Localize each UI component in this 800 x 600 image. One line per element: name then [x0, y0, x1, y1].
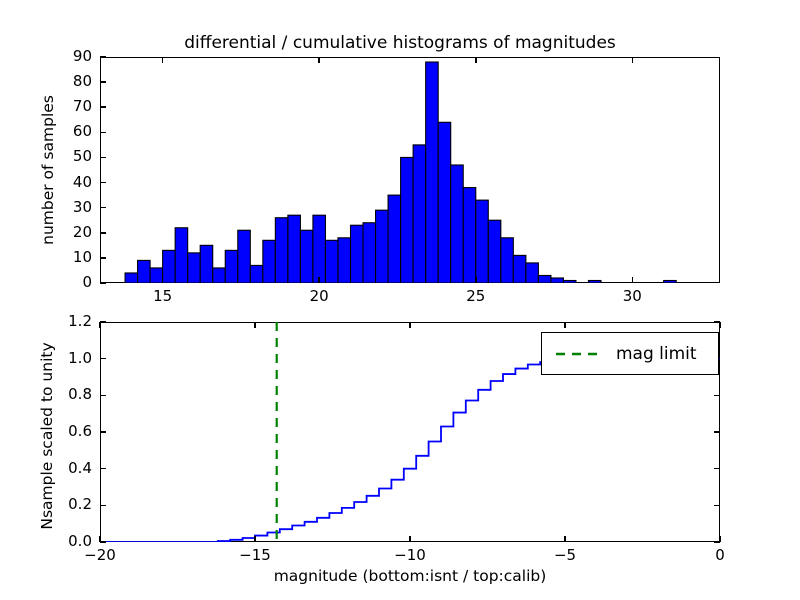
y-tick-label: 60 — [44, 122, 92, 140]
y-tick — [100, 207, 106, 209]
y-tick — [100, 81, 106, 83]
mag-limit-line-icon — [554, 347, 600, 361]
x-tick-label: −5 — [525, 546, 605, 564]
histogram-bar — [250, 265, 263, 283]
x-tick — [254, 536, 256, 542]
y-tick-label: 30 — [44, 198, 92, 216]
histogram-bar — [138, 260, 151, 283]
y-tick — [100, 56, 106, 58]
y-tick-right — [714, 431, 720, 433]
histogram-bar — [501, 238, 514, 283]
histogram-bar — [413, 145, 426, 283]
y-tick-label: 40 — [44, 173, 92, 191]
histogram-bar — [463, 188, 476, 283]
y-tick — [100, 157, 106, 159]
y-tick — [100, 541, 106, 543]
y-tick — [100, 282, 106, 284]
histogram-bar — [488, 220, 501, 283]
y-tick-label: 0.4 — [38, 459, 92, 477]
x-tick-top — [719, 322, 721, 328]
histogram-bar — [426, 62, 439, 283]
x-tick — [564, 536, 566, 542]
y-tick — [100, 395, 106, 397]
y-tick-label: 20 — [44, 223, 92, 241]
histogram-bar — [526, 263, 539, 283]
y-tick-label: 0.6 — [38, 422, 92, 440]
legend-label-mag-limit: mag limit — [616, 344, 697, 364]
differential-histogram-plot — [100, 57, 720, 283]
y-tick — [100, 505, 106, 507]
histogram-bar — [401, 157, 414, 283]
histogram-bar — [150, 268, 163, 283]
y-tick-label: 10 — [44, 248, 92, 266]
x-tick-top — [254, 322, 256, 328]
x-tick-top — [318, 57, 320, 63]
y-tick — [100, 321, 106, 323]
x-tick-top — [475, 57, 477, 63]
x-tick — [162, 277, 164, 283]
x-tick-label: −20 — [60, 546, 140, 564]
histogram-bar — [300, 230, 313, 283]
histogram-bar — [363, 223, 376, 283]
x-tick — [719, 536, 721, 542]
x-tick-label: −10 — [370, 546, 450, 564]
histogram-bar — [313, 215, 326, 283]
histogram-bar — [538, 275, 551, 283]
histogram-bar — [338, 238, 351, 283]
x-tick — [632, 277, 634, 283]
histogram-bar — [376, 210, 389, 283]
histogram-bar — [664, 280, 677, 283]
histogram-bar — [588, 280, 601, 283]
y-tick — [100, 232, 106, 234]
histogram-bar — [351, 225, 364, 283]
histogram-bar — [188, 253, 201, 283]
page-title: differential / cumulative histograms of … — [0, 33, 800, 53]
histogram-bar — [551, 278, 564, 283]
x-tick — [99, 536, 101, 542]
x-tick-label: 25 — [436, 287, 516, 305]
y-tick-right — [714, 505, 720, 507]
histogram-bar — [263, 240, 276, 283]
histogram-bar — [388, 195, 401, 283]
y-tick-label: 50 — [44, 147, 92, 165]
histogram-bar — [200, 245, 213, 283]
histogram-bar — [275, 218, 288, 283]
y-tick-label: 1.2 — [38, 312, 92, 330]
y-tick-label: 70 — [44, 97, 92, 115]
x-tick-label: −15 — [215, 546, 295, 564]
x-tick-label: 30 — [592, 287, 672, 305]
histogram-bar — [476, 200, 489, 283]
y-tick — [100, 182, 106, 184]
x-tick-label: 20 — [279, 287, 359, 305]
y-tick-label: 0 — [44, 273, 92, 291]
x-tick-top — [409, 322, 411, 328]
y-tick — [100, 431, 106, 433]
legend[interactable]: mag limit — [541, 332, 719, 375]
y-tick-label: 0.8 — [38, 385, 92, 403]
cumulative-curve — [100, 359, 720, 542]
histogram-bar — [238, 230, 251, 283]
x-tick — [475, 277, 477, 283]
histogram-bar — [213, 268, 226, 283]
y-tick-label: 0.2 — [38, 495, 92, 513]
x-tick-top — [99, 322, 101, 328]
x-tick-label: 0 — [680, 546, 760, 564]
y-tick-label: 90 — [44, 47, 92, 65]
histogram-bar — [451, 165, 464, 283]
histogram-bar — [563, 280, 576, 283]
x-tick — [318, 277, 320, 283]
y-tick — [100, 358, 106, 360]
y-tick-label: 80 — [44, 72, 92, 90]
histogram-bar — [163, 250, 176, 283]
x-tick-top — [162, 57, 164, 63]
y-tick-right — [714, 395, 720, 397]
x-tick-top — [632, 57, 634, 63]
figure-canvas: differential / cumulative histograms of … — [0, 0, 800, 600]
y-tick — [100, 257, 106, 259]
histogram-bar — [288, 215, 301, 283]
y-tick — [100, 106, 106, 108]
y-tick-label: 1.0 — [38, 349, 92, 367]
histogram-bar — [513, 255, 526, 283]
histogram-bar — [125, 273, 138, 283]
y-tick — [100, 132, 106, 134]
y-tick-right — [714, 468, 720, 470]
histogram-bar — [438, 122, 451, 283]
x-tick — [409, 536, 411, 542]
histogram-bar — [225, 250, 238, 283]
x-tick-label: 15 — [123, 287, 203, 305]
histogram-bar — [175, 228, 188, 283]
x-tick-top — [564, 322, 566, 328]
bottom-axis-xlabel: magnitude (bottom:isnt / top:calib) — [100, 567, 720, 585]
histogram-bar — [325, 240, 338, 283]
y-tick — [100, 468, 106, 470]
